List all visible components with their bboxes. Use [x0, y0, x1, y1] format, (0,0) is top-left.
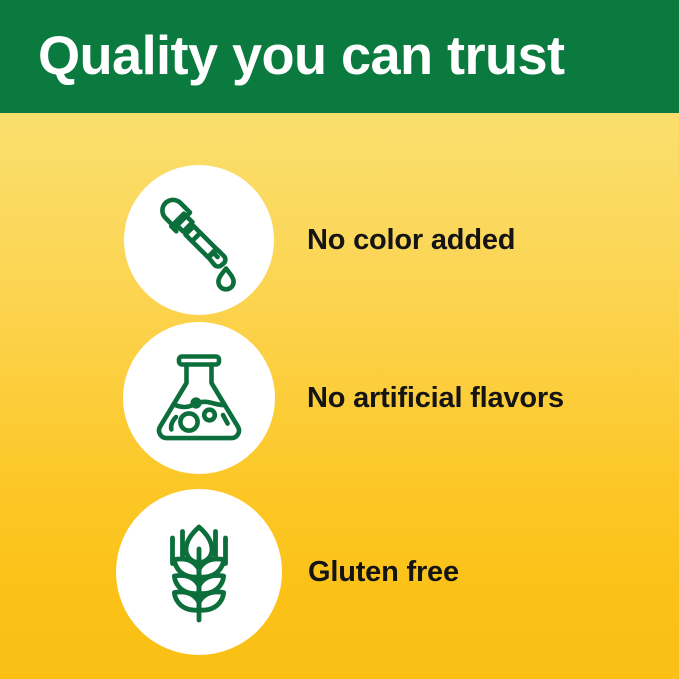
feature-item-no-artificial-flavors: No artificial flavors [0, 310, 679, 486]
icon-badge [124, 165, 274, 315]
feature-list: No color added [0, 113, 679, 679]
icon-badge [116, 489, 282, 655]
flask-icon [147, 346, 251, 450]
feature-label: No color added [307, 226, 515, 255]
feature-item-no-color-added: No color added [0, 152, 679, 328]
promo-banner: Quality you can trust [0, 0, 679, 679]
dropper-icon [147, 188, 251, 292]
feature-label: Gluten free [308, 558, 459, 587]
icon-badge [123, 322, 275, 474]
feature-item-gluten-free: Gluten free [0, 477, 679, 667]
page-title: Quality you can trust [38, 28, 564, 83]
feature-label: No artificial flavors [307, 384, 564, 413]
wheat-icon [147, 516, 251, 628]
header-band: Quality you can trust [0, 0, 679, 113]
